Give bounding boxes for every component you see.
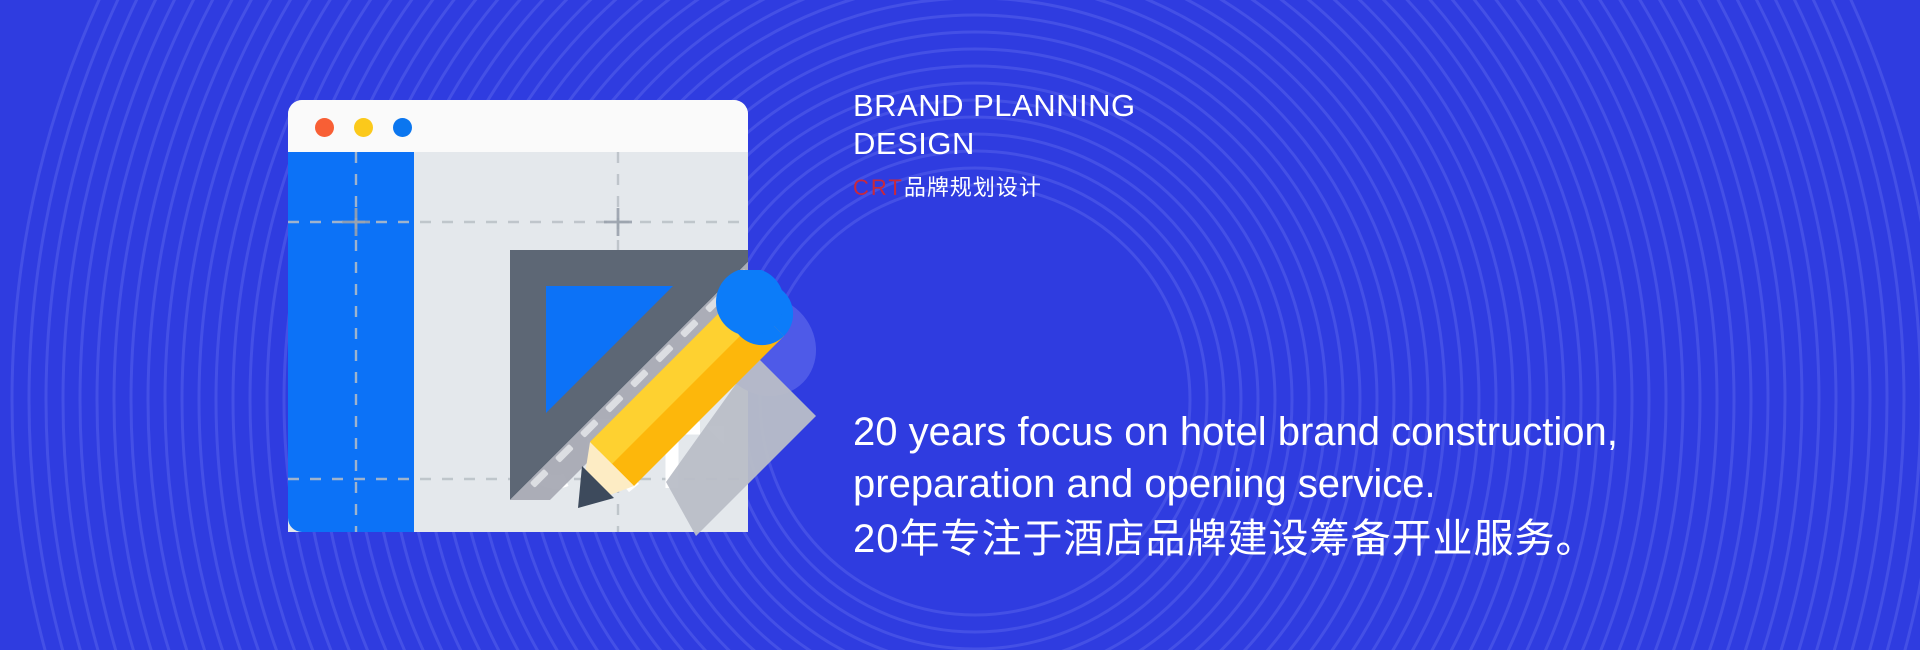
browser-titlebar xyxy=(288,100,748,152)
maximize-dot-icon xyxy=(393,118,412,137)
banner-text-column: BRAND PLANNING DESIGN CRT品牌规划设计 20 years… xyxy=(853,0,1873,650)
brand-banner: BRAND PLANNING DESIGN CRT品牌规划设计 20 years… xyxy=(0,0,1920,650)
eyebrow-title-en: BRAND PLANNING DESIGN xyxy=(853,87,1473,163)
brand-design-illustration xyxy=(0,0,900,650)
eyebrow-title-cn-row: CRT品牌规划设计 xyxy=(853,174,1042,202)
headline-chinese: 20年专注于酒店品牌建设筹备开业服务。 xyxy=(853,513,1597,565)
eyebrow-title-cn: 品牌规划设计 xyxy=(904,175,1042,200)
headline-english: 20 years focus on hotel brand constructi… xyxy=(853,406,1713,510)
close-dot-icon xyxy=(315,118,334,137)
minimize-dot-icon xyxy=(354,118,373,137)
brand-code-label: CRT xyxy=(853,175,904,200)
pencil-icon xyxy=(570,270,850,560)
